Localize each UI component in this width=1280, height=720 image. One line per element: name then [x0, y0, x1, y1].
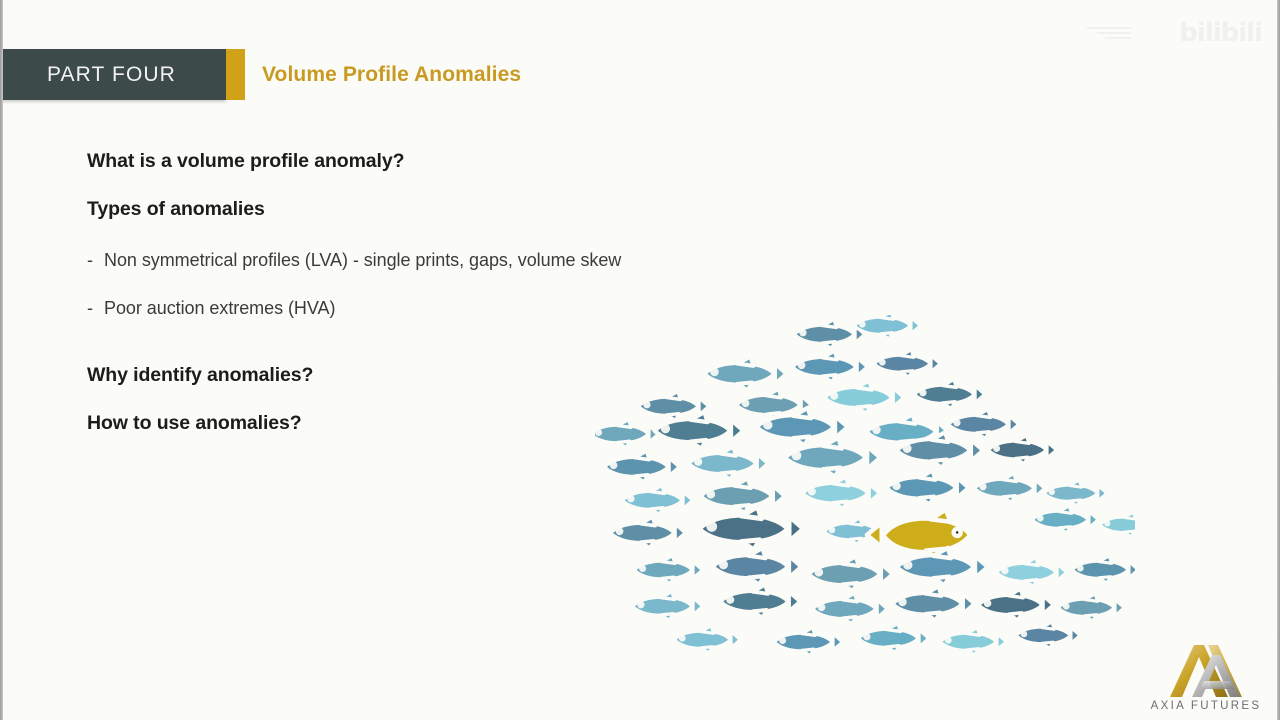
axia-logo-mark-icon: [1142, 643, 1270, 699]
part-number-block: PART FOUR: [0, 49, 226, 100]
body-heading-3: Why identify anomalies?: [87, 364, 727, 387]
part-number-label: PART FOUR: [0, 63, 176, 87]
bullet-text: Poor auction extremes (HVA): [104, 298, 335, 319]
bullet-item: - Non symmetrical profiles (LVA) - singl…: [87, 250, 727, 271]
watermark-text: bilibili: [1179, 18, 1262, 48]
bullet-dash-icon: -: [87, 250, 104, 271]
body-heading-1: What is a volume profile anomaly?: [87, 150, 727, 173]
slide-body: What is a volume profile anomaly? Types …: [87, 150, 727, 435]
slide-title: Volume Profile Anomalies: [262, 49, 521, 100]
bullet-item: - Poor auction extremes (HVA): [87, 298, 727, 319]
axia-futures-logo: AXIA FUTURES: [1142, 643, 1270, 712]
slide-header-band: PART FOUR: [0, 49, 245, 100]
axia-logo-text: AXIA FUTURES: [1142, 700, 1270, 712]
video-left-edge: [0, 0, 3, 720]
bullet-text: Non symmetrical profiles (LVA) - single …: [104, 250, 621, 271]
bullet-dash-icon: -: [87, 298, 104, 319]
body-heading-4: How to use anomalies?: [87, 412, 727, 435]
bilibili-watermark: bilibili: [1087, 18, 1262, 48]
slide-canvas: PART FOUR Volume Profile Anomalies What …: [0, 0, 1280, 720]
anomaly-gold-fish: [867, 510, 970, 560]
watermark-lines-icon: [1087, 27, 1171, 39]
body-heading-2: Types of anomalies: [87, 198, 727, 221]
header-accent-block: [226, 49, 245, 100]
